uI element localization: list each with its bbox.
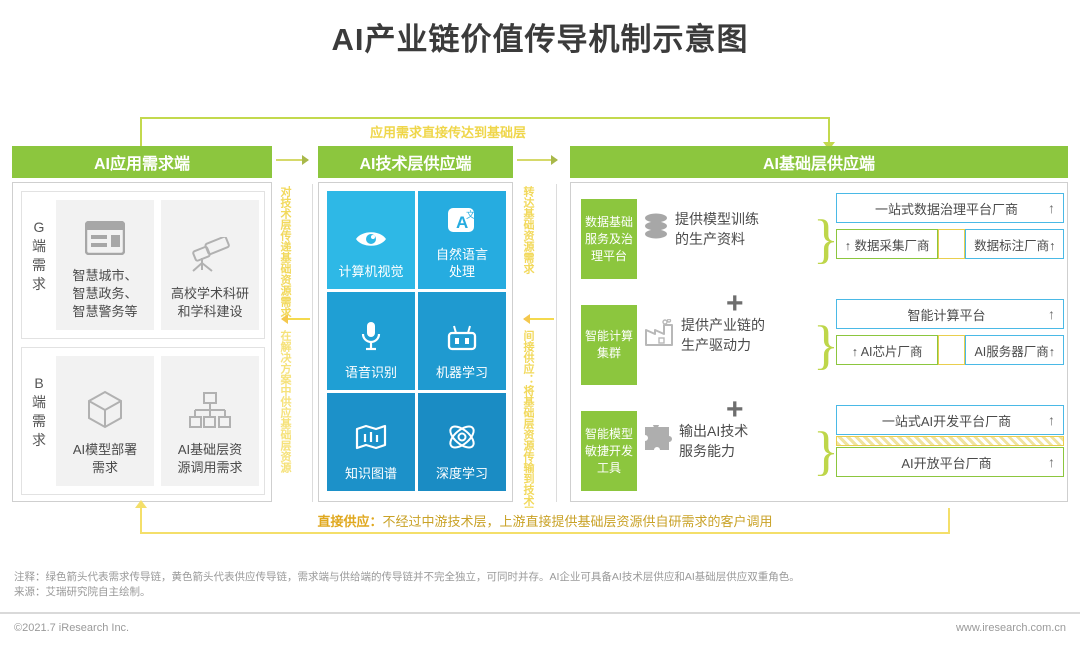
vendor-box-label: 一站式AI开发平台厂商 (845, 411, 1048, 430)
tech-tile-label: 自然语言处理 (436, 246, 488, 280)
vendor-box-hatch (938, 335, 965, 365)
tech-tile-computer-vision[interactable]: 计算机视觉 (327, 191, 415, 289)
vlabel-demand-to-tech: 对技术层传递基础资源需求 (278, 186, 291, 298)
hatch-separator (836, 436, 1064, 446)
atom-icon (446, 422, 478, 456)
dashboard-icon (85, 221, 125, 260)
demand-card[interactable]: 高校学术科研和学科建设 (161, 200, 259, 330)
demand-group-b-cards: AI模型部署需求 AI基础层资源调用需求 (56, 356, 259, 486)
hierarchy-icon (188, 391, 232, 434)
tech-tile-speech-recognition[interactable]: 语音识别 (327, 292, 415, 390)
up-arrow-icon: ↑ (1048, 454, 1055, 470)
feedback-arrow-line-right (828, 117, 830, 144)
demand-card-label: AI模型部署需求 (73, 441, 137, 477)
vlabel-tech-to-demand: 在解决方案中供应基础层资源 (278, 330, 291, 500)
vendor-box-ai-server[interactable]: AI服务器厂商↑ (965, 335, 1064, 365)
base-row-model-tools: 智能模型敏捷开发工具 输出AI技术服务能力 } 一站式AI开发平台厂商 ↑ AI… (571, 403, 1069, 499)
vendor-box-split-row: ↑ 数据采集厂商 数据标注厂商↑ (836, 229, 1064, 259)
supply-banner-text: 不经过中游技术层，上游直接提供基础层资源供自研需求的客户调用 (383, 511, 773, 530)
demand-group-b: B端需求 AI模型部署需求 (21, 347, 265, 495)
divider-app-tech (312, 184, 313, 502)
database-icon (643, 212, 669, 247)
map-icon (355, 424, 387, 456)
arrow-tech-to-demand (282, 318, 310, 320)
base-row-desc: 输出AI技术服务能力 (643, 421, 811, 461)
base-row-tag: 智能模型敏捷开发工具 (581, 411, 637, 491)
vendor-box-oneshot-data-governance[interactable]: 一站式数据治理平台厂商 ↑ (836, 193, 1064, 223)
base-row-desc-text: 输出AI技术服务能力 (679, 421, 748, 461)
demand-card-label: AI基础层资源调用需求 (177, 441, 242, 477)
footer-divider (0, 612, 1080, 614)
tech-tile-label: 知识图谱 (345, 465, 397, 482)
eye-icon (354, 228, 388, 254)
translate-icon: A 文 (447, 205, 477, 237)
copyright-text: ©2021.7 iResearch Inc. (14, 622, 129, 634)
tech-tile-label: 机器学习 (436, 364, 488, 381)
up-arrow-icon: ↑ (1048, 200, 1055, 216)
footer-note-2: 来源：艾瑞研究院自主绘制。 (14, 585, 1070, 600)
telescope-icon (189, 237, 231, 278)
base-row-desc: 提供模型训练的生产资料 (643, 209, 811, 249)
tech-tile-label: 语音识别 (345, 364, 397, 381)
feedback-arrow-line-left (140, 117, 142, 146)
demand-card[interactable]: AI基础层资源调用需求 (161, 356, 259, 486)
base-row-tag: 数据基础服务及治理平台 (581, 199, 637, 279)
vendor-box-label: 一站式数据治理平台厂商 (845, 199, 1048, 218)
header-app-demand: AI应用需求端 (12, 146, 272, 178)
header-base-supply: AI基础层供应端 (570, 146, 1068, 178)
base-row-desc-text: 提供模型训练的生产资料 (675, 209, 759, 249)
cube-icon (85, 389, 125, 434)
arrow-base-to-tech (524, 318, 554, 320)
demand-card-label: 智慧城市、智慧政务、智慧警务等 (72, 267, 137, 321)
demand-group-g-cards: 智慧城市、智慧政务、智慧警务等 高校学术科研和学科建设 (56, 200, 259, 330)
panel-base-supply: 数据基础服务及治理平台 提供模型训练的生产资料 } 一站式数据治理平台厂商 ↑ … (570, 182, 1068, 502)
demand-card[interactable]: AI模型部署需求 (56, 356, 154, 486)
robot-icon (446, 325, 478, 355)
vendor-box-label: 智能计算平台 (845, 305, 1048, 324)
puzzle-icon (643, 425, 673, 458)
supply-banner-strong: 直接供应： (317, 511, 382, 530)
base-row-boxes: 智能计算平台 ↑ ↑ AI芯片厂商 AI服务器厂商↑ (836, 299, 1064, 365)
vendor-box-label: AI开放平台厂商 (845, 453, 1048, 472)
tech-tile-knowledge-graph[interactable]: 知识图谱 (327, 393, 415, 491)
vendor-box-hatch (938, 229, 965, 259)
tech-tile-label: 深度学习 (436, 465, 488, 482)
demand-group-g-label: G端需求 (28, 218, 50, 294)
base-row-tag: 智能计算集群 (581, 305, 637, 385)
base-row-compute: 智能计算集群 提供产业链的生产驱动力 } 智能计算平台 ↑ ↑ AI芯片厂商 (571, 297, 1069, 393)
base-row-boxes: 一站式AI开发平台厂商 ↑ AI开放平台厂商 ↑ (836, 405, 1064, 477)
vendor-box-intelligent-compute-platform[interactable]: 智能计算平台 ↑ (836, 299, 1064, 329)
vlabel-tech-to-base: 转达基础资源需求 (521, 186, 534, 286)
header-arrow-app-to-tech (276, 159, 308, 161)
footer-note-1: 注释：绿色箭头代表需求传导链，黄色箭头代表供应传导链，需求端与供给端的传导链并不… (14, 570, 1070, 585)
microphone-icon (360, 321, 382, 355)
base-row-desc: 提供产业链的生产驱动力 (643, 315, 811, 355)
up-arrow-icon: ↑ (1048, 412, 1055, 428)
tech-tile-label: 计算机视觉 (338, 263, 403, 280)
vendor-box-oneshot-ai-dev-platform[interactable]: 一站式AI开发平台厂商 ↑ (836, 405, 1064, 435)
demand-card[interactable]: 智慧城市、智慧政务、智慧警务等 (56, 200, 154, 330)
website-link[interactable]: www.iresearch.com.cn (956, 622, 1066, 634)
divider-tech-base (556, 184, 557, 502)
vendor-box-split-row: ↑ AI芯片厂商 AI服务器厂商↑ (836, 335, 1064, 365)
vlabel-base-to-tech: 间接供应：将基础层资源传输到技术层 (521, 330, 534, 500)
panel-app-demand: G端需求 智慧城市、智慧政务、智慧警务等 (12, 182, 272, 502)
demand-group-g: G端需求 智慧城市、智慧政务、智慧警务等 (21, 191, 265, 339)
page-title: AI产业链价值传导机制示意图 (0, 14, 1080, 59)
panel-tech-supply: 计算机视觉 A 文 自然语言处理 语音识别 (318, 182, 513, 502)
vendor-box-data-annotation[interactable]: 数据标注厂商↑ (965, 229, 1064, 259)
up-arrow-icon: ↑ (1048, 306, 1055, 322)
header-tech-supply: AI技术层供应端 (318, 146, 513, 178)
vendor-box-ai-open-platform[interactable]: AI开放平台厂商 ↑ (836, 447, 1064, 477)
supply-banner: 直接供应： 不经过中游技术层，上游直接提供基础层资源供自研需求的客户调用 (140, 508, 950, 534)
base-row-desc-text: 提供产业链的生产驱动力 (681, 315, 765, 355)
factory-icon (643, 319, 675, 352)
demand-group-b-label: B端需求 (28, 374, 50, 450)
vendor-box-data-collection[interactable]: ↑ 数据采集厂商 (836, 229, 938, 259)
base-row-data: 数据基础服务及治理平台 提供模型训练的生产资料 } 一站式数据治理平台厂商 ↑ … (571, 191, 1069, 287)
tech-tile-grid: 计算机视觉 A 文 自然语言处理 语音识别 (327, 191, 506, 491)
vendor-box-ai-chip[interactable]: ↑ AI芯片厂商 (836, 335, 938, 365)
footer-notes: 注释：绿色箭头代表需求传导链，黄色箭头代表供应传导链，需求端与供给端的传导链并不… (14, 570, 1070, 600)
base-row-boxes: 一站式数据治理平台厂商 ↑ ↑ 数据采集厂商 数据标注厂商↑ (836, 193, 1064, 259)
feedback-arrow-line-horizontal (140, 117, 830, 119)
tech-tile-nlp[interactable]: A 文 自然语言处理 (418, 191, 506, 289)
header-arrow-tech-to-base (517, 159, 557, 161)
tech-tile-machine-learning[interactable]: 机器学习 (418, 292, 506, 390)
svg-text:文: 文 (466, 209, 475, 220)
feedback-banner-label: 应用需求直接传达到基础层 (364, 122, 532, 141)
demand-card-label: 高校学术科研和学科建设 (171, 285, 249, 321)
tech-tile-deep-learning[interactable]: 深度学习 (418, 393, 506, 491)
